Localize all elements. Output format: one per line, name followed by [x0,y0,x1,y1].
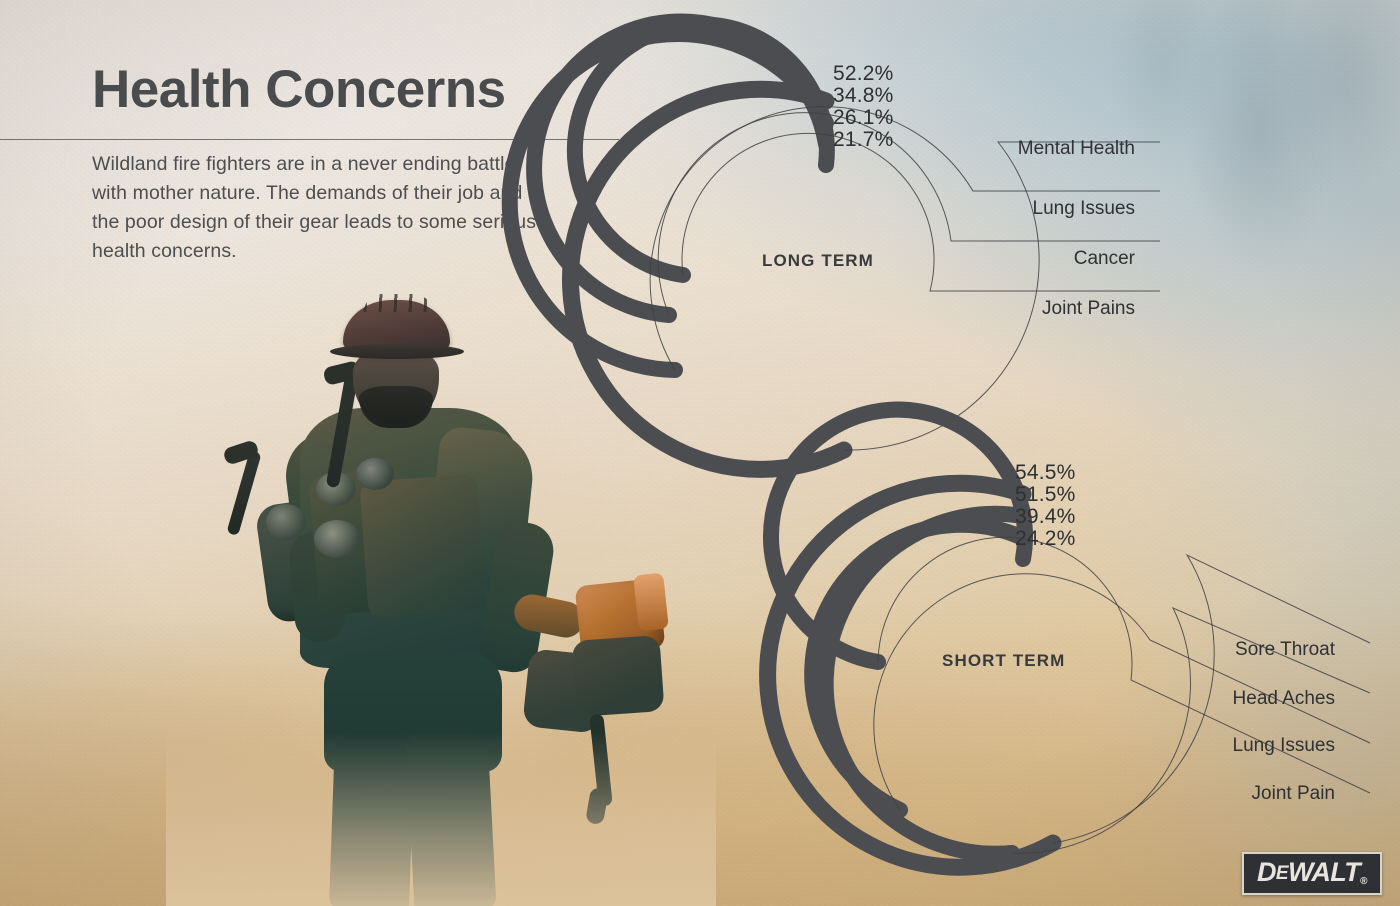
can-cap-4 [314,520,360,558]
can-cap-3 [356,458,394,490]
page-title: Health Concerns [92,62,562,118]
drip-torch-ring-1 [571,635,664,717]
short-term-label-head-aches: Head Aches [1135,688,1335,710]
helmet-brim [330,344,464,359]
dewalt-logo-d: D [1257,857,1276,887]
can-cap-1 [266,504,306,540]
long-term-label-lung-issues: Lung Issues [935,198,1135,220]
dewalt-logo: DEWALT® [1242,852,1382,895]
short-term-label-lung-issues: Lung Issues [1135,735,1335,757]
short-term-percent-head-aches: 51.5% [1015,483,1076,507]
dewalt-logo-walt: WALT [1288,857,1360,887]
long-term-arc-mental-health [570,89,844,469]
long-term-percent-joint-pains: 21.7% [833,128,894,152]
helmet-ridges [364,294,433,312]
short-term-percent-sore-throat: 54.5% [1015,461,1076,485]
long-term-label-cancer: Cancer [935,248,1135,270]
intro-block: Health Concerns Wildland fire fighters a… [92,62,562,118]
short-term-percent-lung-issues: 39.4% [1015,505,1076,529]
long-term-percent-cancer: 26.1% [833,106,894,130]
intro-paragraph: Wildland fire fighters are in a never en… [92,150,542,265]
short-term-percent-joint-pain: 24.2% [1015,527,1076,551]
long-term-label-joint-pains: Joint Pains [935,298,1135,320]
long-term-percent-lung-issues: 34.8% [833,84,894,108]
short-term-label-joint-pain: Joint Pain [1135,783,1335,805]
long-term-percent-mental-health: 52.2% [833,62,894,86]
short-term-label-sore-throat: Sore Throat [1135,639,1335,661]
dewalt-logo-registered: ® [1360,876,1367,887]
drip-torch-cap [633,573,669,632]
short-term-center-label: SHORT TERM [942,651,1065,671]
infographic-poster: Health Concerns Wildland fire fighters a… [0,0,1400,906]
fuel-can-right [359,474,486,618]
photo-bottom-fade [166,732,716,906]
dewalt-logo-e: E [1276,863,1288,884]
long-term-center-label: LONG TERM [762,251,874,271]
long-term-label-mental-health: Mental Health [935,138,1135,160]
